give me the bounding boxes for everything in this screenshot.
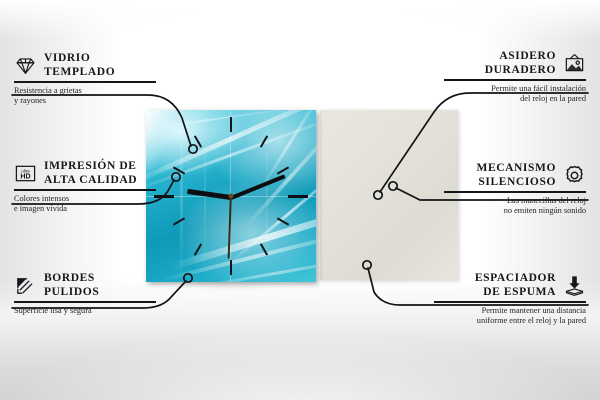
feature-divider	[14, 81, 156, 83]
polished-edges-icon	[14, 274, 37, 297]
feature-title-line1: ASIDERO	[499, 50, 556, 62]
feature-description: Resistencia a grietas y rayones	[14, 86, 156, 106]
feature-description: Superficie lisa y segura	[14, 306, 156, 316]
feature-title-line1: MECANISMO	[476, 162, 556, 174]
feature-title-line2: TEMPLADO	[44, 66, 115, 78]
feature-divider	[444, 79, 586, 81]
feature-title-line2: DE ESPUMA	[483, 286, 556, 298]
connector-endpoint-espaciador	[363, 261, 371, 269]
infographic-canvas: VIDRIO TEMPLADO Resistencia a grietas y …	[0, 0, 600, 400]
feature-divider	[14, 189, 156, 191]
feature-description: Colores intensos e imagen vívida	[14, 194, 156, 214]
diamond-icon	[14, 54, 37, 77]
feature-title: IMPRESIÓN DE ALTA CALIDAD	[44, 160, 137, 187]
feature-asidero-duradero[interactable]: ASIDERO DURADERO Permite una fácil insta…	[444, 50, 586, 104]
feature-title: MECANISMO SILENCIOSO	[476, 162, 556, 189]
connector-endpoint-bordes	[184, 274, 192, 282]
feature-title: BORDES PULIDOS	[44, 272, 99, 299]
arrow-down-layers-icon	[563, 274, 586, 297]
connector-endpoint-mecanismo	[389, 182, 397, 190]
connector-endpoint-vidrio	[189, 145, 197, 153]
feature-title-line1: VIDRIO	[44, 52, 90, 64]
feature-title: VIDRIO TEMPLADO	[44, 52, 115, 79]
clock-center-hub	[229, 194, 234, 199]
feature-title-line1: IMPRESIÓN DE	[44, 160, 137, 172]
feature-title-line2: ALTA CALIDAD	[44, 174, 137, 186]
feature-impresion-alta-calidad[interactable]: ultra HD IMPRESIÓN DE ALTA CALIDAD Color…	[14, 160, 156, 214]
feature-title-line2: SILENCIOSO	[478, 176, 556, 188]
feature-bordes-pulidos[interactable]: BORDES PULIDOS Superficie lisa y segura	[14, 272, 156, 316]
connector-endpoint-impresion	[172, 173, 180, 181]
feature-title-line1: ESPACIADOR	[475, 272, 556, 284]
wall-hanger-icon	[563, 52, 586, 75]
feature-mecanismo-silencioso[interactable]: MECANISMO SILENCIOSO Las manecillas del …	[444, 162, 586, 216]
feature-description: Permite mantener una distancia uniforme …	[434, 306, 586, 326]
feature-title: ESPACIADOR DE ESPUMA	[475, 272, 556, 299]
feature-title-line2: PULIDOS	[44, 286, 99, 298]
svg-text:HD: HD	[20, 173, 30, 181]
ultra-hd-icon: ultra HD	[14, 162, 37, 185]
gear-icon	[563, 164, 586, 187]
feature-description: Las manecillas del reloj no emiten ningú…	[444, 196, 586, 216]
feature-title-line2: DURADERO	[485, 64, 556, 76]
feature-title: ASIDERO DURADERO	[485, 50, 556, 77]
feature-espaciador-de-espuma[interactable]: ESPACIADOR DE ESPUMA Permite mantener un…	[434, 272, 586, 326]
feature-divider	[444, 191, 586, 193]
feature-description: Permite una fácil instalación del reloj …	[444, 84, 586, 104]
feature-vidrio-templado[interactable]: VIDRIO TEMPLADO Resistencia a grietas y …	[14, 52, 156, 106]
feature-title-line1: BORDES	[44, 272, 95, 284]
feature-divider	[14, 301, 156, 303]
feature-divider	[434, 301, 586, 303]
connector-endpoint-asidero	[374, 191, 382, 199]
